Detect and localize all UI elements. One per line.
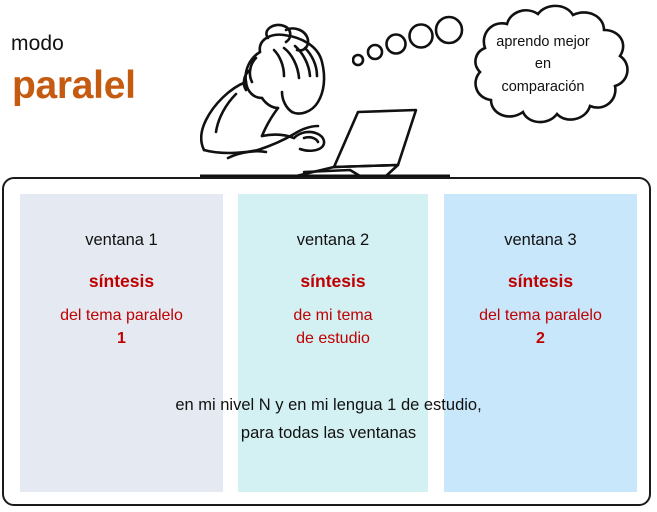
window-synthesis-label-3: síntesis [444, 272, 637, 291]
window-description-1-line-1: del tema paralelo [20, 305, 223, 328]
window-description-2-line-2: de estudio [238, 328, 428, 351]
window-description-1: del tema paralelo 1 [20, 305, 223, 350]
window-description-2: de mi tema de estudio [238, 305, 428, 350]
thought-bubble-text: aprendo mejor en comparación [463, 31, 623, 98]
window-synthesis-label-2: síntesis [238, 272, 428, 291]
window-column-3-content: ventana 3 síntesis del tema paralelo 2 [444, 194, 637, 351]
window-column-1[interactable]: ventana 1 síntesis del tema paralelo 1 [20, 194, 223, 492]
window-number-1: 1 [20, 328, 223, 351]
mode-label: modo [11, 33, 64, 54]
window-column-2[interactable]: ventana 2 síntesis de mi tema de estudio [238, 194, 428, 492]
window-synthesis-label-1: síntesis [20, 272, 223, 291]
window-title-2: ventana 2 [238, 231, 428, 249]
bubble-line-2: en [463, 53, 623, 75]
bubble-line-3: comparación [463, 76, 623, 98]
window-number-3: 2 [444, 328, 637, 351]
window-title-1: ventana 1 [20, 231, 223, 249]
windows-columns: ventana 1 síntesis del tema paralelo 1 v… [4, 179, 649, 504]
window-description-2-line-1: de mi tema [238, 305, 428, 328]
window-column-2-content: ventana 2 síntesis de mi tema de estudio [238, 194, 428, 351]
window-column-1-content: ventana 1 síntesis del tema paralelo 1 [20, 194, 223, 351]
window-title-3: ventana 3 [444, 231, 637, 249]
windows-panel: ventana 1 síntesis del tema paralelo 1 v… [2, 177, 651, 506]
window-description-3-line-1: del tema paralelo [444, 305, 637, 328]
window-description-3: del tema paralelo 2 [444, 305, 637, 350]
window-column-3[interactable]: ventana 3 síntesis del tema paralelo 2 [444, 194, 637, 492]
page-title: paralel [12, 66, 136, 105]
header-area: modo paralel [0, 0, 657, 177]
bubble-line-1: aprendo mejor [463, 31, 623, 53]
